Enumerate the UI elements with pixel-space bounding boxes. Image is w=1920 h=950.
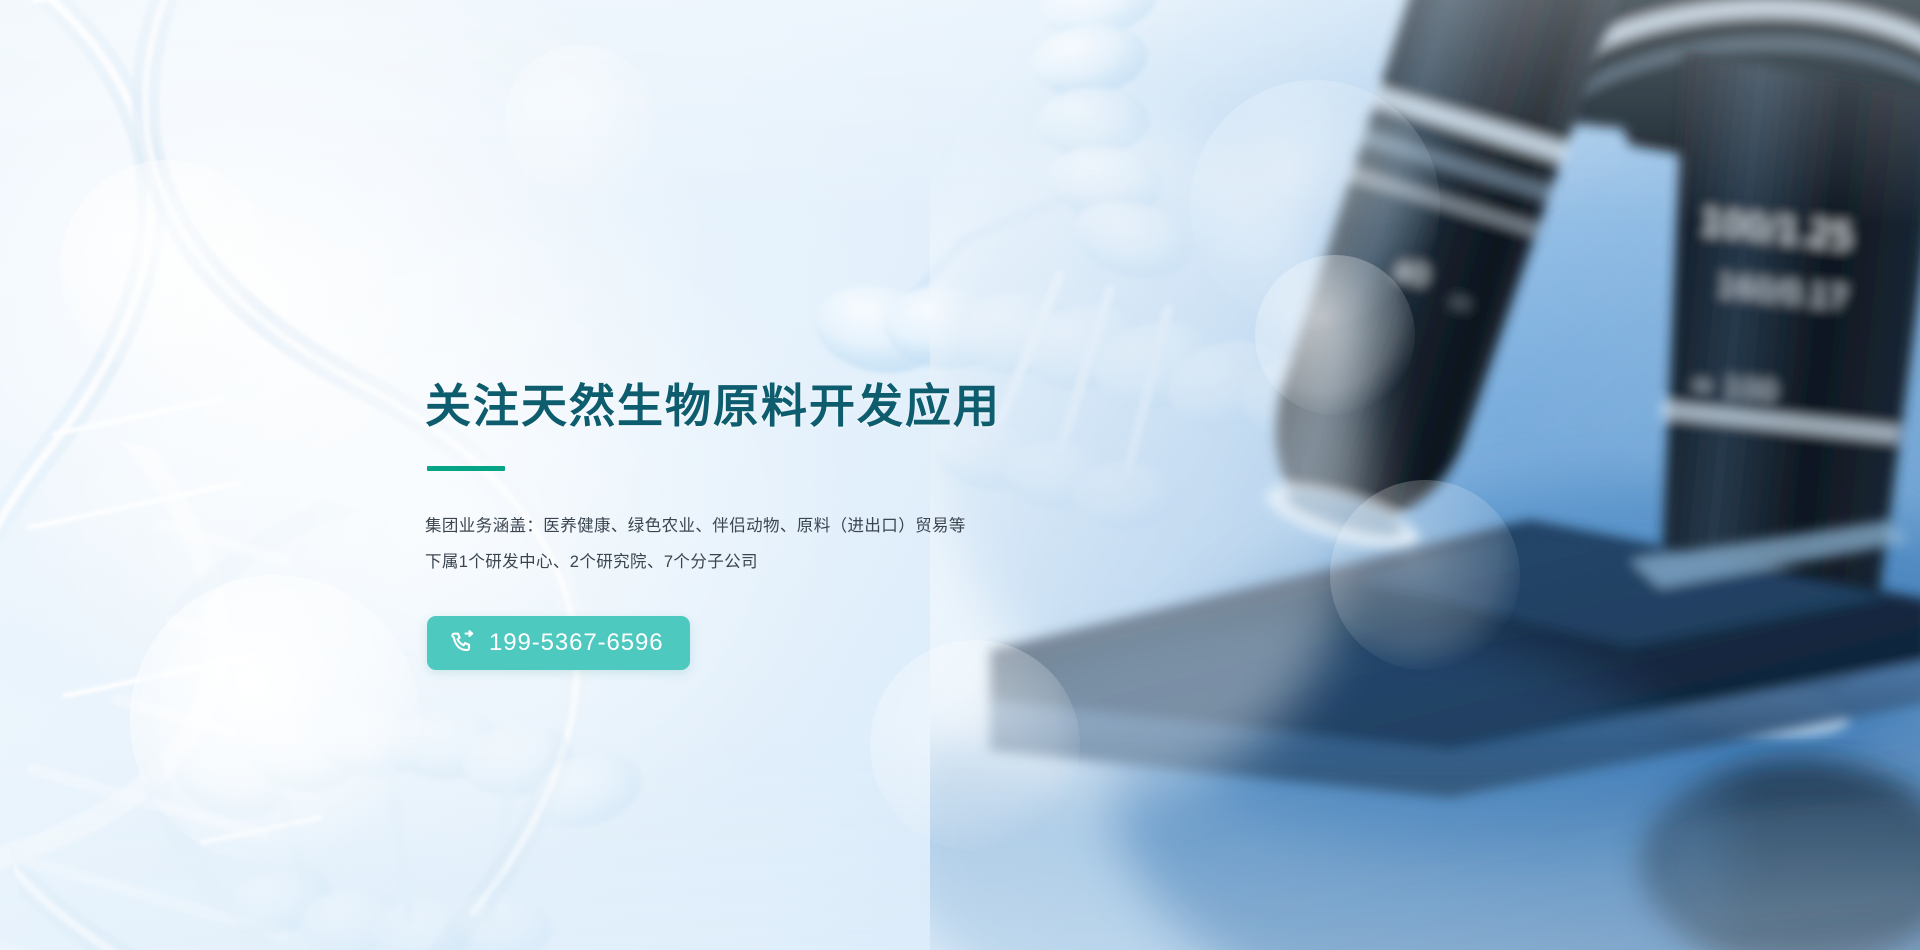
- bokeh-light-5: [870, 640, 1080, 850]
- phone-number-label: 199-5367-6596: [489, 629, 664, 657]
- microscope-label-40: 40: [1391, 256, 1430, 292]
- bokeh-light-1: [130, 575, 420, 865]
- hero-banner: 40 m 100/1.25 160/0.17 ∞ 100: [0, 0, 1920, 950]
- hero-content: 关注天然生物原料开发应用 集团业务涵盖：医养健康、绿色农业、伴侣动物、原料（进出…: [425, 378, 1245, 670]
- microscope-label-160-017: 160/0.17: [1716, 268, 1849, 315]
- hero-description-line-2: 下属1个研发中心、2个研究院、7个分子公司: [425, 545, 1245, 580]
- title-divider: [427, 466, 505, 471]
- hero-description-line-1: 集团业务涵盖：医养健康、绿色农业、伴侣动物、原料（进出口）贸易等: [425, 509, 1245, 544]
- bokeh-light-7: [505, 45, 655, 195]
- bokeh-light-3: [1190, 80, 1440, 330]
- microscope-label-100: ∞ 100: [1690, 367, 1779, 409]
- hero-title: 关注天然生物原料开发应用: [425, 378, 1245, 434]
- hero-description: 集团业务涵盖：医养健康、绿色农业、伴侣动物、原料（进出口）贸易等 下属1个研发中…: [425, 509, 1245, 580]
- bokeh-light-2: [60, 160, 275, 375]
- svg-text:m: m: [1449, 289, 1472, 316]
- phone-contact-button[interactable]: 199-5367-6596: [427, 616, 690, 670]
- bokeh-light-6: [1330, 480, 1520, 670]
- microscope-label-100-125: 100/1.25: [1699, 202, 1854, 258]
- phone-forward-icon: [450, 630, 476, 656]
- bokeh-light-4: [1255, 255, 1415, 415]
